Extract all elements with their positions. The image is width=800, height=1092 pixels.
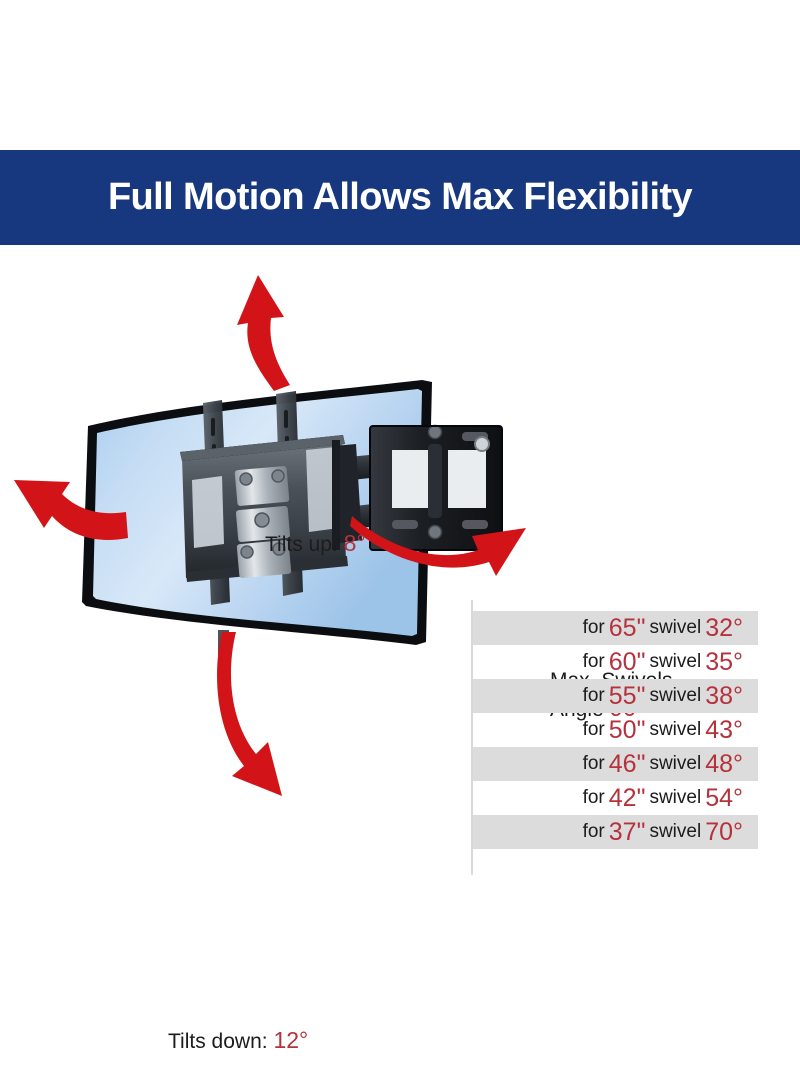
row-middle-label: swivel bbox=[646, 753, 704, 775]
infographic-page: Full Motion Allows Max Flexibility bbox=[0, 0, 800, 1092]
row-screen-size: 50" bbox=[608, 716, 647, 745]
row-swivel-angle: 43° bbox=[704, 716, 744, 745]
row-prefix: for bbox=[580, 753, 608, 775]
tilt-up-value: 8° bbox=[344, 530, 366, 556]
header-banner: Full Motion Allows Max Flexibility bbox=[0, 150, 800, 245]
tilt-down-label: Tilts down: 12° bbox=[168, 1026, 308, 1055]
row-swivel-angle: 35° bbox=[704, 648, 744, 677]
tv-neck bbox=[218, 630, 229, 680]
row-middle-label: swivel bbox=[646, 787, 704, 809]
table-row: for37"swivel70° bbox=[473, 815, 758, 849]
row-prefix: for bbox=[580, 685, 608, 707]
table-rows-container: for65"swivel32°for60"swivel35°for55"swiv… bbox=[473, 611, 758, 849]
row-prefix: for bbox=[580, 617, 608, 639]
row-middle-label: swivel bbox=[646, 821, 704, 843]
row-swivel-angle: 70° bbox=[704, 818, 744, 847]
row-prefix: for bbox=[580, 821, 608, 843]
table-row: for46"swivel48° bbox=[473, 747, 758, 781]
row-screen-size: 37" bbox=[608, 818, 647, 847]
tilt-up-label: Tilts up: 8° bbox=[265, 529, 366, 558]
row-prefix: for bbox=[580, 719, 608, 741]
tilt-down-value: 12° bbox=[273, 1027, 308, 1053]
tilt-down-text: Tilts down: bbox=[168, 1030, 268, 1053]
row-swivel-angle: 32° bbox=[704, 614, 744, 643]
row-middle-label: swivel bbox=[646, 651, 704, 673]
row-swivel-angle: 38° bbox=[704, 682, 744, 711]
pivot-hardware bbox=[235, 466, 292, 578]
row-screen-size: 60" bbox=[608, 648, 647, 677]
row-middle-label: swivel bbox=[646, 617, 704, 639]
swivel-angle-table: for65"swivel32°for60"swivel35°for55"swiv… bbox=[455, 600, 765, 875]
row-screen-size: 46" bbox=[608, 750, 647, 779]
table-row: for65"swivel32° bbox=[473, 611, 758, 645]
table-row: for55"swivel38° bbox=[473, 679, 758, 713]
table-row: for60"swivel35° bbox=[473, 645, 758, 679]
row-screen-size: 42" bbox=[608, 784, 647, 813]
tilt-up-text: Tilts up: bbox=[265, 533, 338, 556]
row-prefix: for bbox=[580, 787, 608, 809]
row-prefix: for bbox=[580, 651, 608, 673]
table-row: for50"swivel43° bbox=[473, 713, 758, 747]
row-screen-size: 65" bbox=[608, 614, 647, 643]
row-middle-label: swivel bbox=[646, 685, 704, 707]
table-row: for42"swivel54° bbox=[473, 781, 758, 815]
row-middle-label: swivel bbox=[646, 719, 704, 741]
row-swivel-angle: 48° bbox=[704, 750, 744, 779]
page-title: Full Motion Allows Max Flexibility bbox=[108, 176, 692, 219]
row-screen-size: 55" bbox=[608, 682, 647, 711]
row-swivel-angle: 54° bbox=[704, 784, 744, 813]
wall-plate bbox=[370, 426, 502, 551]
